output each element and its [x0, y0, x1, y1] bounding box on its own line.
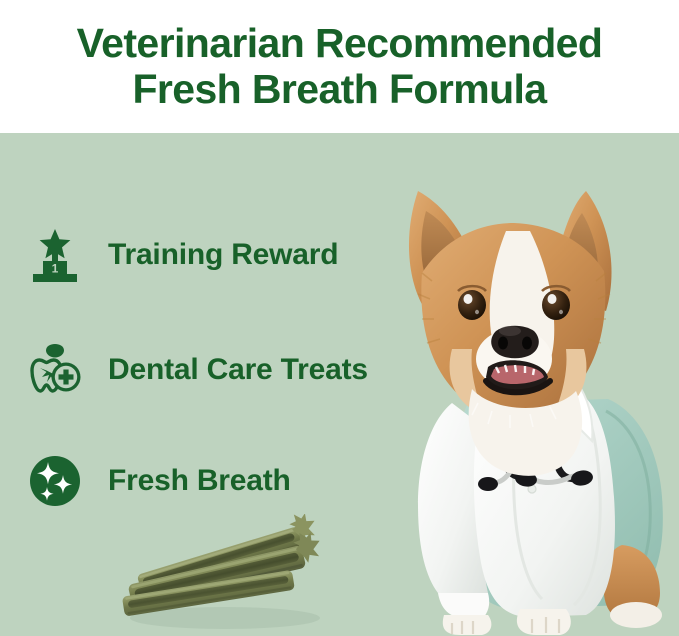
feature-panel: 1 Training Reward Dental [0, 133, 679, 636]
product-marketing-image: Veterinarian Recommended Fresh Breath Fo… [0, 0, 679, 636]
corgi-vet-photo [360, 153, 679, 636]
feature-label-training-reward: Training Reward [108, 238, 338, 272]
svg-text:1: 1 [52, 262, 59, 276]
headline-line-2: Fresh Breath Formula [132, 68, 546, 111]
feature-item-fresh-breath: Fresh Breath [24, 450, 291, 512]
header-banner: Veterinarian Recommended Fresh Breath Fo… [0, 0, 679, 133]
dental-chew-sticks [120, 514, 335, 636]
feature-list: 1 Training Reward Dental [0, 133, 420, 533]
podium-first-place-star-icon: 1 [24, 224, 86, 286]
feature-label-dental-care: Dental Care Treats [108, 353, 368, 387]
sparkle-circle-icon [24, 450, 86, 512]
headline-line-1: Veterinarian Recommended [77, 22, 603, 65]
feature-item-training-reward: 1 Training Reward [24, 224, 338, 286]
feature-item-dental-care: Dental Care Treats [24, 339, 368, 401]
feature-label-fresh-breath: Fresh Breath [108, 464, 291, 498]
tooth-medical-cross-icon [24, 339, 86, 401]
